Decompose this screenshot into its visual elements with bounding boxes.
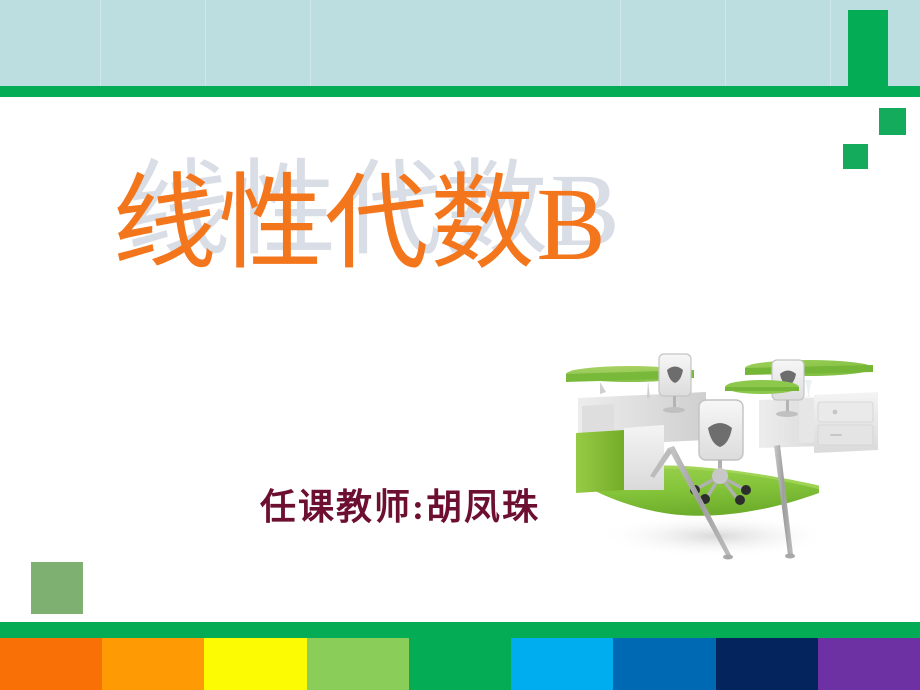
accent-square-lower-right <box>843 144 868 169</box>
bottom-color-strip <box>0 638 920 690</box>
color-chip-yellow <box>204 638 306 690</box>
color-chip-light-green <box>307 638 409 690</box>
top-green-rule-tail <box>848 86 920 97</box>
accent-square-upper-right <box>879 108 906 135</box>
top-band <box>0 0 920 86</box>
office-desks-illustration <box>556 340 890 592</box>
top-band-stripe-1 <box>205 0 206 86</box>
color-chip-green <box>409 638 511 690</box>
color-chip-orange <box>0 638 102 690</box>
color-chip-navy <box>716 638 818 690</box>
top-band-stripe-3 <box>620 0 621 86</box>
color-chip-cyan <box>511 638 613 690</box>
slide-title: 线性代数B <box>0 168 720 282</box>
accent-square-sage-bottom-left <box>31 562 83 614</box>
top-green-rule <box>0 86 920 97</box>
top-green-block <box>848 10 888 86</box>
color-chip-blue <box>613 638 715 690</box>
color-chip-amber <box>102 638 204 690</box>
presentation-slide: 线性代数B 任课教师:胡凤珠 <box>0 0 920 690</box>
top-band-stripe-2 <box>310 0 311 86</box>
top-band-stripe-5 <box>830 0 831 86</box>
top-band-stripe-0 <box>100 0 101 86</box>
bottom-green-rule <box>0 622 920 638</box>
top-band-stripe-4 <box>725 0 726 86</box>
office-desks-photo <box>556 340 890 592</box>
color-chip-purple <box>818 638 920 690</box>
